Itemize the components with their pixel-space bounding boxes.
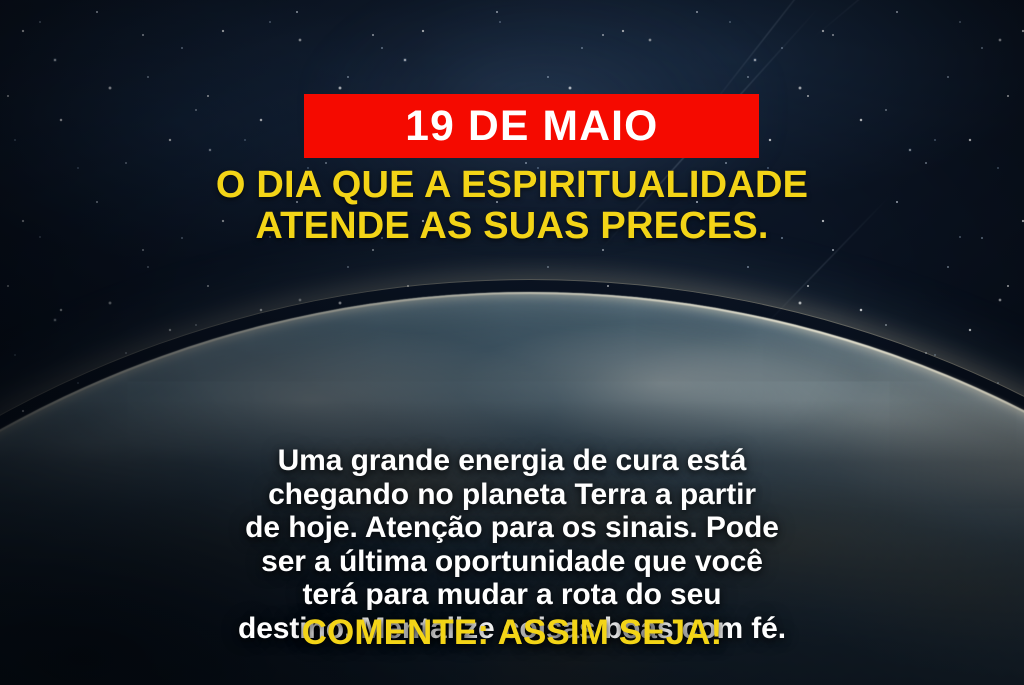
poster-canvas: 19 DE MAIO O DIA QUE A ESPIRITUALIDADE A… xyxy=(0,0,1024,685)
body-copy-line-2: chegando no planeta Terra a partir xyxy=(62,478,962,512)
body-copy-line-4: ser a última oportunidade que você xyxy=(62,545,962,579)
date-banner-label: 19 DE MAIO xyxy=(405,105,658,148)
headline-line-1: O DIA QUE A ESPIRITUALIDADE xyxy=(0,165,1024,206)
body-copy-line-1: Uma grande energia de cura está xyxy=(62,444,962,478)
date-banner: 19 DE MAIO xyxy=(304,94,759,158)
headline-line-2: ATENDE AS SUAS PRECES. xyxy=(0,206,1024,247)
body-copy-line-5: terá para mudar a rota do seu xyxy=(62,578,962,612)
body-copy-line-3: de hoje. Atenção para os sinais. Pode xyxy=(62,511,962,545)
headline: O DIA QUE A ESPIRITUALIDADE ATENDE AS SU… xyxy=(0,165,1024,247)
poster-content: 19 DE MAIO O DIA QUE A ESPIRITUALIDADE A… xyxy=(0,0,1024,685)
call-to-action-text: COMENTE: ASSIM SEJA! xyxy=(0,614,1024,652)
